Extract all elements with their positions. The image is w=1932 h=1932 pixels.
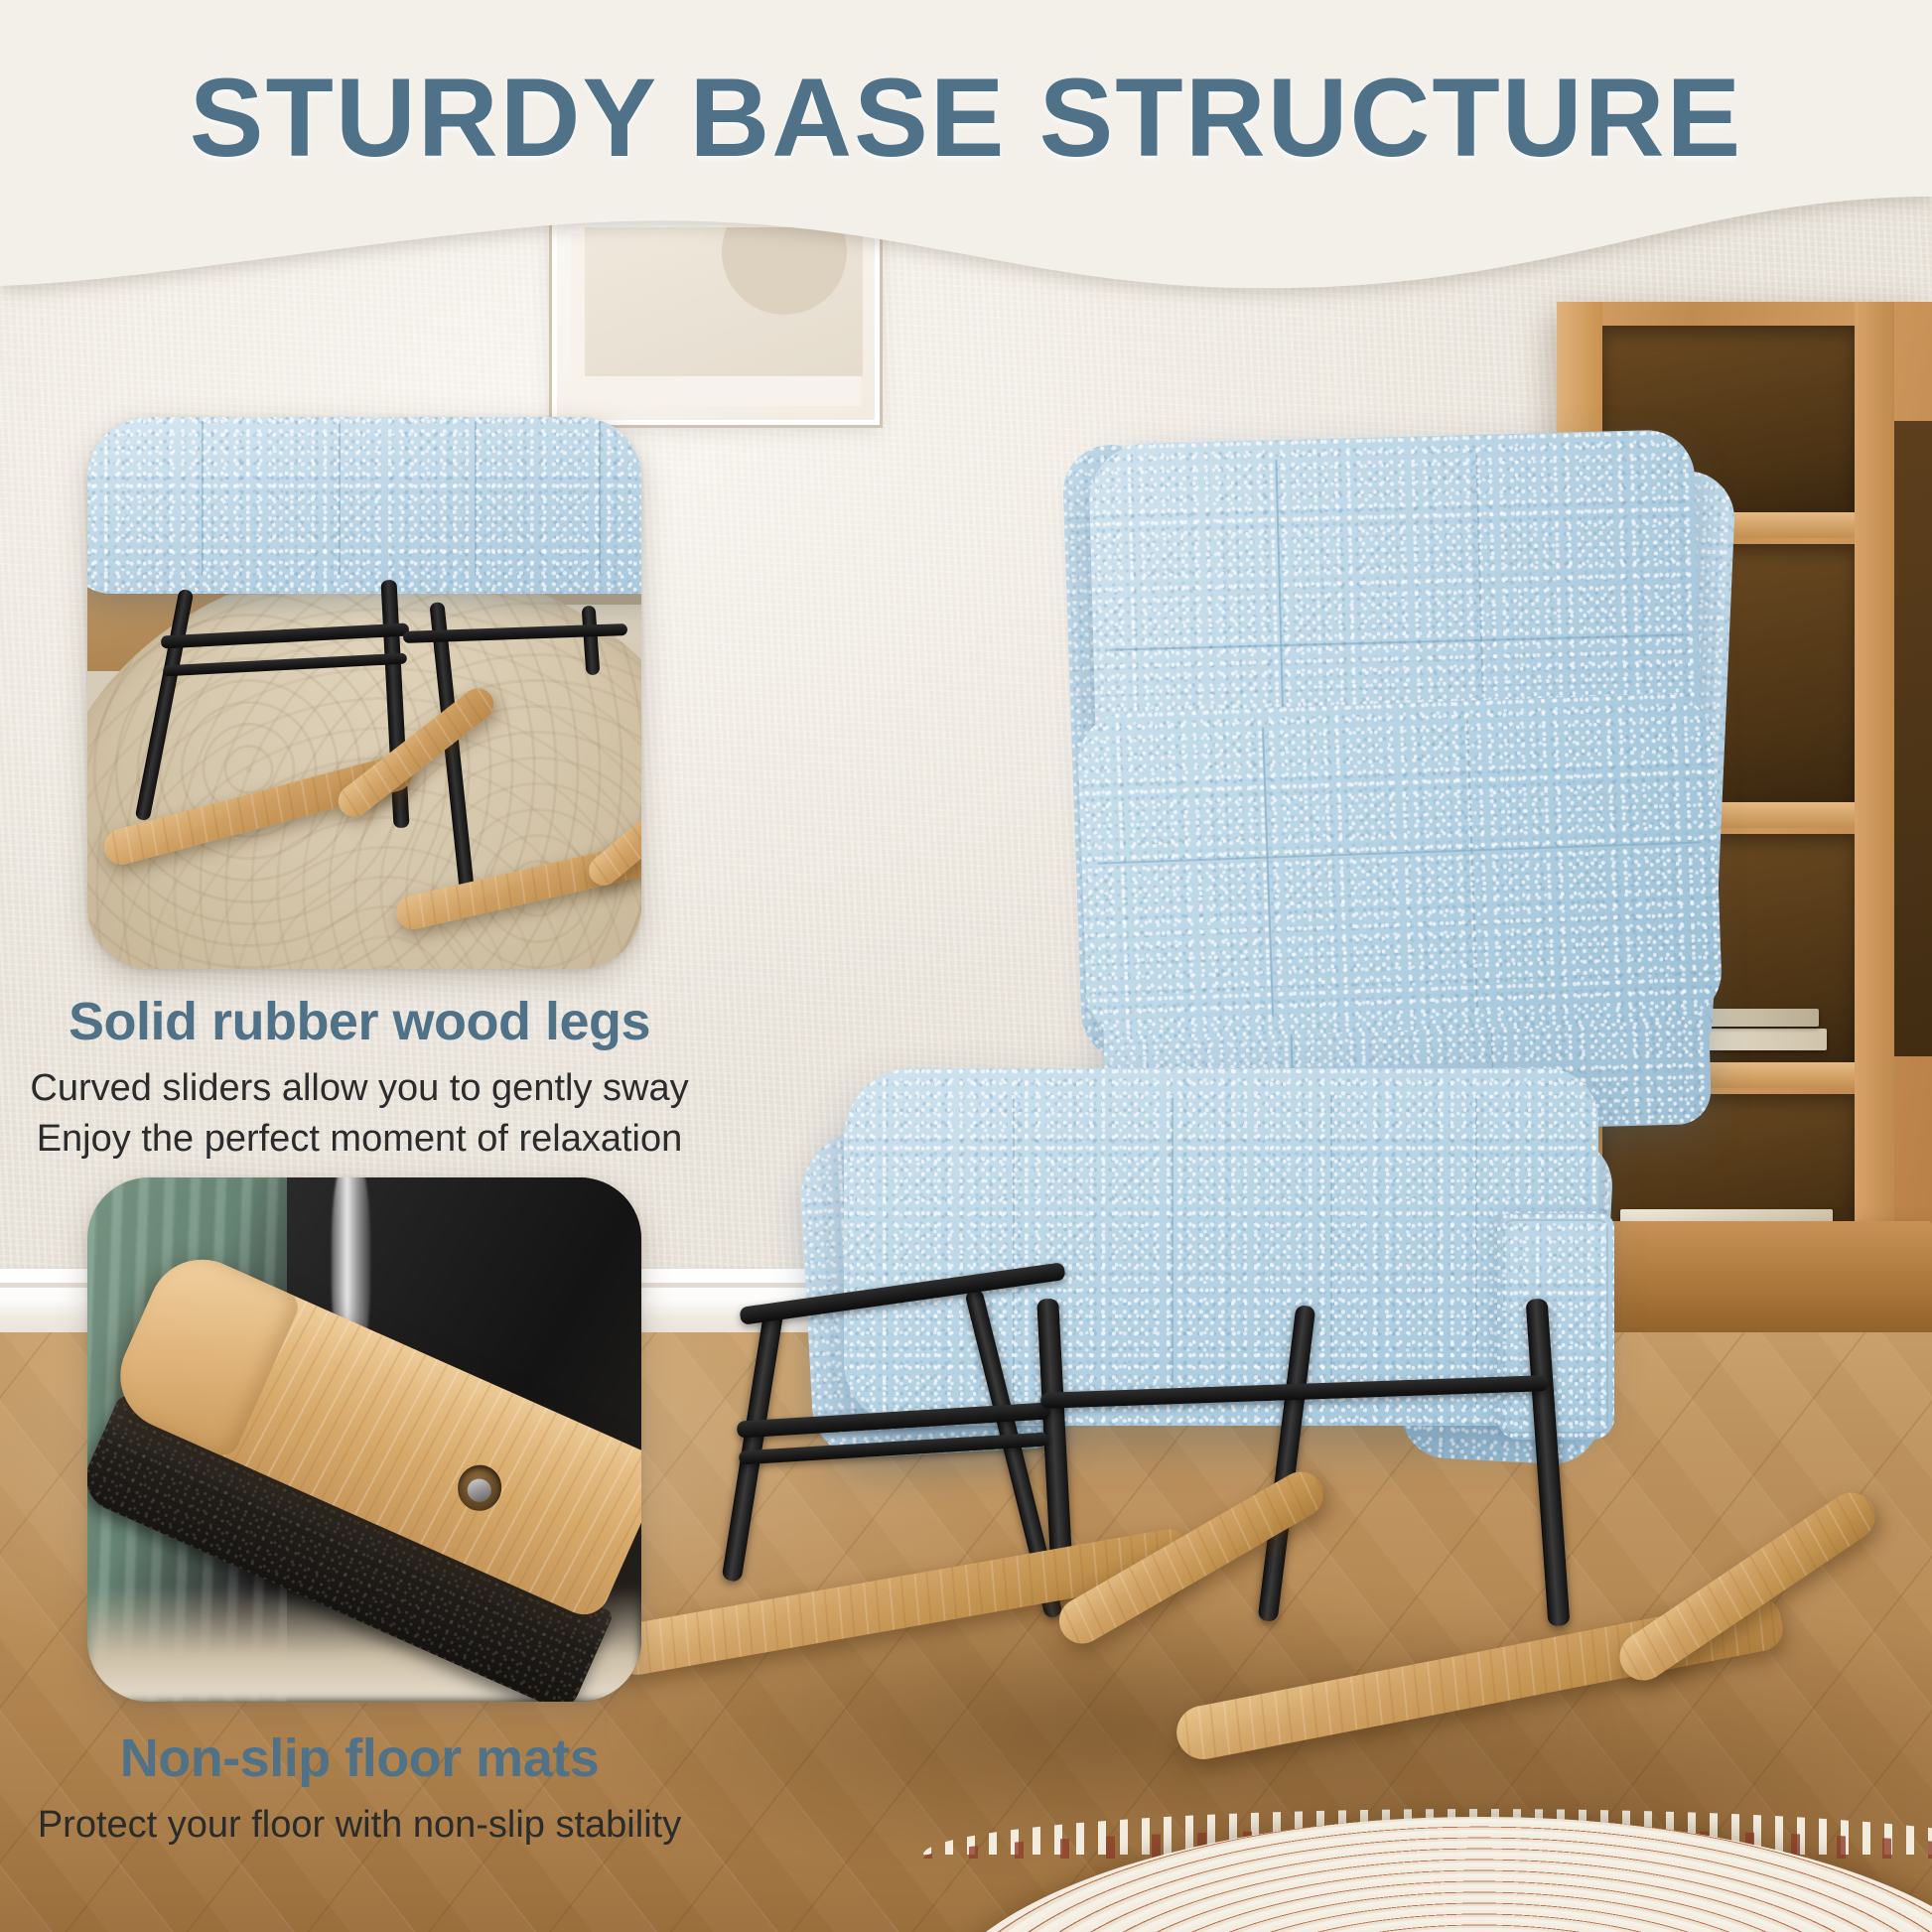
chair-side-pocket — [1497, 1213, 1614, 1440]
feature-body-legs-line1: Curved sliders allow you to gently sway — [12, 1063, 707, 1114]
feature-caption-legs: Solid rubber wood legs Curved sliders al… — [12, 993, 707, 1165]
feature-title-legs: Solid rubber wood legs — [12, 993, 707, 1051]
chair-lumbar-cushion — [1076, 692, 1723, 1041]
feature-image-card-mats — [87, 1177, 641, 1702]
chair-seat-cushion — [844, 1068, 1598, 1426]
wooden-rocker-rear-curve — [1610, 1483, 1884, 1690]
feature-title-mats: Non-slip floor mats — [12, 1729, 707, 1788]
feature-body-legs-line2: Enjoy the perfect moment of relaxation — [12, 1114, 707, 1165]
page-title: STURDY BASE STRUCTURE — [0, 54, 1932, 182]
feature-body-mats: Protect your floor with non-slip stabili… — [12, 1800, 707, 1851]
chair-leg-front-left — [722, 1309, 784, 1583]
card1-seat-cushion — [87, 417, 641, 594]
feature-image-card-legs — [87, 417, 641, 969]
feature-caption-mats: Non-slip floor mats Protect your floor w… — [12, 1729, 707, 1851]
feature-body-legs: Curved sliders allow you to gently sway … — [12, 1063, 707, 1165]
feature-body-mats-line1: Protect your floor with non-slip stabili… — [12, 1800, 707, 1851]
poster-stage: STURDY BASE STRUCTURE — [0, 0, 1932, 1932]
